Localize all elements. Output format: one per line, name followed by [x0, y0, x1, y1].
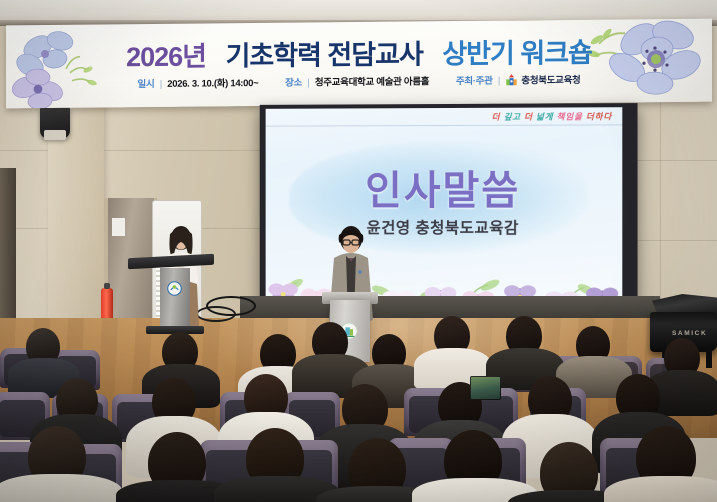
- slide-tagline: 더 깊고 더 넓게 책임을 더하다: [492, 110, 612, 123]
- slide-title: 인사말씀: [266, 158, 623, 216]
- projection-screen: 더 깊고 더 넓게 책임을 더하다 인사말씀 윤건영 충청북도교육감: [260, 103, 638, 311]
- banner-title-blue: 상반기 워크숍: [442, 38, 592, 69]
- banner-host-label: 주최·주관: [456, 76, 493, 87]
- wall-seam: [0, 150, 262, 151]
- banner-title-year: 2026년: [126, 41, 206, 72]
- slide-tagline-part-0: 더: [492, 112, 501, 122]
- banner-sep-1: |: [160, 79, 162, 90]
- ceiling-speaker: [40, 106, 70, 138]
- slide-tagline-part-5: 더하다: [586, 111, 612, 121]
- doorway-far-left: [0, 168, 16, 328]
- audience-shoulders: [604, 476, 717, 502]
- podium-left-emblem-icon: [167, 281, 182, 296]
- banner-date-value: 2026. 3. 10.(화) 14:00~: [167, 78, 258, 90]
- slide-subtitle: 윤건영 충청북도교육감: [266, 216, 623, 238]
- banner-place-value: 청주교육대학교 예술관 아름홀: [315, 76, 429, 88]
- banner-date-label: 일시: [138, 79, 155, 90]
- education-office-logo-icon: [505, 73, 518, 86]
- banner-place-label: 장소: [285, 78, 302, 89]
- fire-extinguisher: [101, 288, 113, 320]
- banner-sep-2: |: [307, 77, 309, 88]
- slide-tagline-part-2: 더: [524, 112, 533, 122]
- audience-shoulders: [0, 474, 122, 502]
- banner-title-mid: 기초학력 전담교사: [226, 39, 423, 71]
- podium-left: [160, 268, 190, 330]
- banner-host-value: 충청북도교육청: [521, 75, 580, 87]
- slide-divider: [266, 124, 623, 126]
- tablet-screen[interactable]: [470, 376, 501, 400]
- audience-area: [0, 330, 717, 502]
- slide-tagline-part-3: 넓게: [536, 112, 553, 122]
- door-notice: [112, 218, 125, 236]
- screenshot-root: 2026년 기초학력 전담교사 상반기 워크숍 일시 | 2026. 3. 10…: [0, 0, 717, 502]
- event-banner: 2026년 기초학력 전담교사 상반기 워크숍 일시 | 2026. 3. 10…: [6, 19, 712, 109]
- slide-tagline-part-1: 깊고: [504, 112, 521, 122]
- banner-title: 2026년 기초학력 전담교사 상반기 워크숍: [6, 30, 712, 76]
- slide-tagline-part-4: 책임을: [557, 111, 583, 121]
- banner-sep-3: |: [498, 76, 500, 87]
- projection-screen-surface: 더 깊고 더 넓게 책임을 더하다 인사말씀 윤건영 충청북도교육감: [266, 107, 623, 308]
